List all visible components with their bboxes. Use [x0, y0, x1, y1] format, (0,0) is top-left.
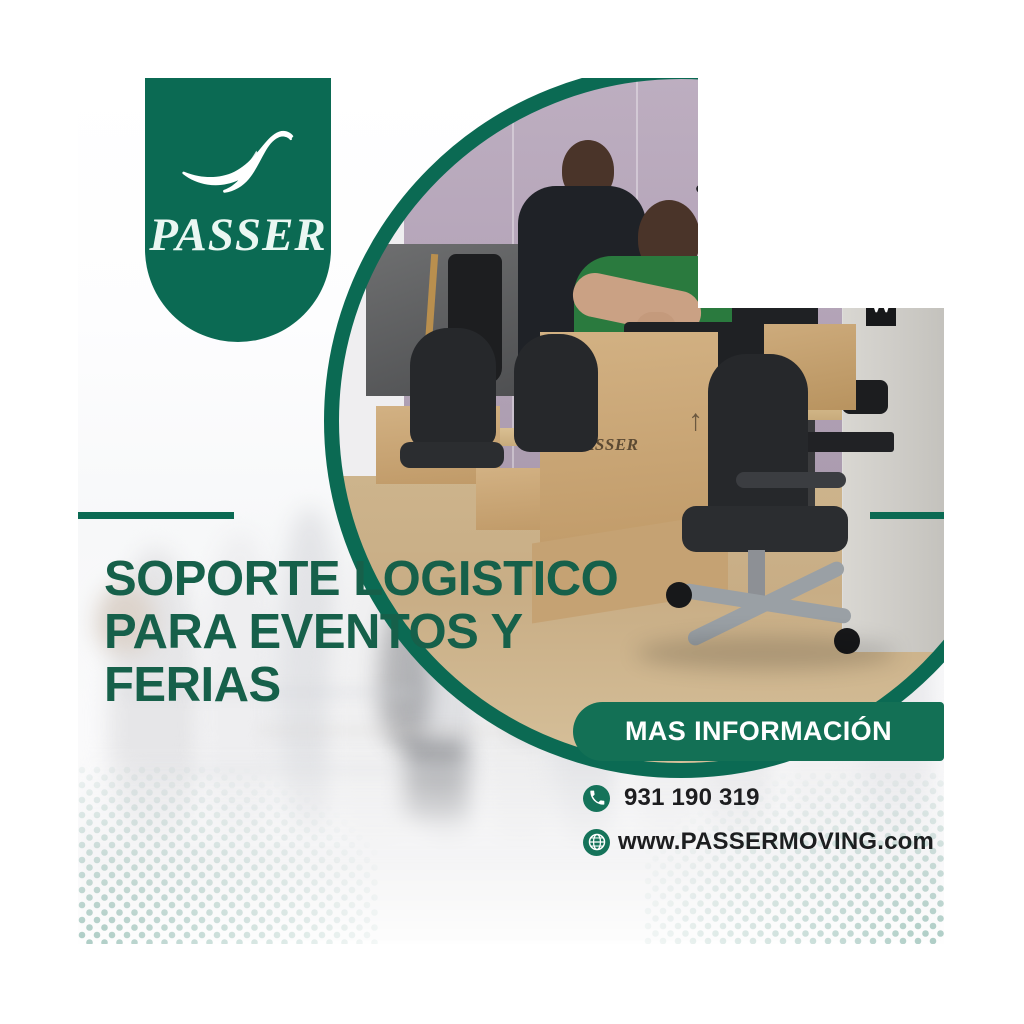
- brand-wordmark: PASSER: [149, 212, 327, 259]
- contact-block: 931 190 319 www.PASSERMOVING.com: [583, 784, 944, 872]
- photo-chair-back-foreground: [708, 354, 808, 524]
- divider-rule-right: [870, 512, 944, 519]
- poster-canvas: W: [0, 0, 1024, 1024]
- photo-chair-back: [514, 334, 598, 452]
- phone-icon: [583, 785, 610, 812]
- page-title: SOPORTE LOGISTICO PARA EVENTOS Y FERIAS: [104, 553, 704, 712]
- photo-chair-seat: [400, 442, 504, 468]
- more-info-button[interactable]: MAS INFORMACIÓN: [573, 702, 944, 761]
- more-info-label: MAS INFORMACIÓN: [625, 716, 892, 747]
- globe-icon: [583, 829, 610, 856]
- brand-logo-badge: PASSER: [145, 78, 331, 342]
- headline-line-1: SOPORTE LOGISTICO: [104, 552, 618, 606]
- contact-row-phone[interactable]: 931 190 319: [583, 784, 944, 812]
- contact-row-website[interactable]: www.PASSERMOVING.com: [583, 828, 944, 856]
- website-url: www.PASSERMOVING.com: [618, 828, 934, 856]
- photo-chair-back: [410, 328, 496, 448]
- phone-number: 931 190 319: [624, 784, 760, 812]
- photo-box-up-arrow: ↑: [688, 406, 703, 436]
- divider-rule-left: [78, 512, 234, 519]
- photo-chair-armrest: [736, 472, 846, 488]
- ring-mask: [698, 78, 944, 308]
- headline-line-2: PARA EVENTOS Y FERIAS: [104, 606, 704, 712]
- sparrow-bird-icon: [179, 128, 297, 206]
- poster-frame: W: [78, 78, 944, 944]
- photo-chair-seat-foreground: [682, 506, 848, 552]
